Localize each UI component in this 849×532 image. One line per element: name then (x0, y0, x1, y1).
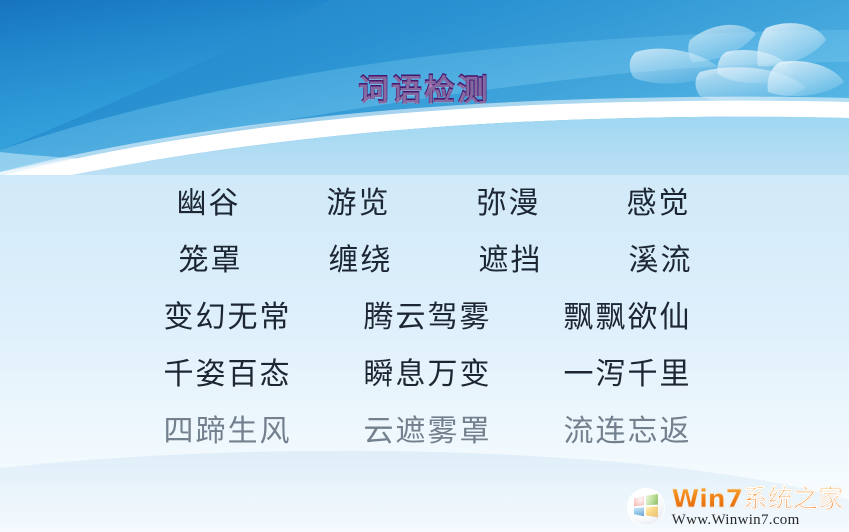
word-item[interactable]: 变幻无常 (128, 292, 328, 336)
word-item[interactable]: 瞬息万变 (328, 349, 528, 393)
word-row: 笼罩 缠绕 遮挡 溪流 (0, 235, 849, 292)
word-item[interactable]: 感觉 (584, 178, 734, 222)
word-list: 幽谷 游览 弥漫 感觉 笼罩 缠绕 遮挡 溪流 变幻无常 腾云驾雾 飘飘欲仙 千… (0, 178, 849, 463)
watermark-brand: Win7系统之家 (672, 486, 843, 511)
page-title: 词语检测 (359, 72, 491, 110)
word-item[interactable]: 游览 (284, 178, 434, 222)
word-item[interactable]: 幽谷 (134, 178, 284, 222)
watermark-url: Www.Winwin7.com (672, 513, 800, 528)
word-item[interactable]: 溪流 (586, 235, 736, 279)
word-item[interactable]: 云遮雾罩 (328, 406, 528, 450)
word-row: 变幻无常 腾云驾雾 飘飘欲仙 (0, 292, 849, 349)
word-row: 幽谷 游览 弥漫 感觉 (0, 178, 849, 235)
word-item[interactable]: 遮挡 (436, 235, 586, 279)
word-item[interactable]: 腾云驾雾 (328, 292, 528, 336)
word-item[interactable]: 弥漫 (434, 178, 584, 222)
watermark-text: Win7系统之家 Www.Winwin7.com (672, 486, 843, 528)
word-row: 千姿百态 瞬息万变 一泻千里 (0, 349, 849, 406)
word-item[interactable]: 笼罩 (136, 235, 286, 279)
word-row: 四蹄生风 云遮雾罩 流连忘返 (0, 406, 849, 463)
word-item[interactable]: 一泻千里 (528, 349, 728, 393)
windows-orb-logo-icon (624, 487, 668, 527)
word-item[interactable]: 四蹄生风 (128, 406, 328, 450)
slide-canvas: 词语检测 幽谷 游览 弥漫 感觉 笼罩 缠绕 遮挡 溪流 变幻无常 腾云驾雾 飘… (0, 0, 849, 532)
word-item[interactable]: 流连忘返 (528, 406, 728, 450)
word-item[interactable]: 飘飘欲仙 (528, 292, 728, 336)
watermark: Win7系统之家 Www.Winwin7.com (624, 486, 843, 528)
word-item[interactable]: 缠绕 (286, 235, 436, 279)
word-item[interactable]: 千姿百态 (128, 349, 328, 393)
title-container: 词语检测 (0, 72, 849, 110)
